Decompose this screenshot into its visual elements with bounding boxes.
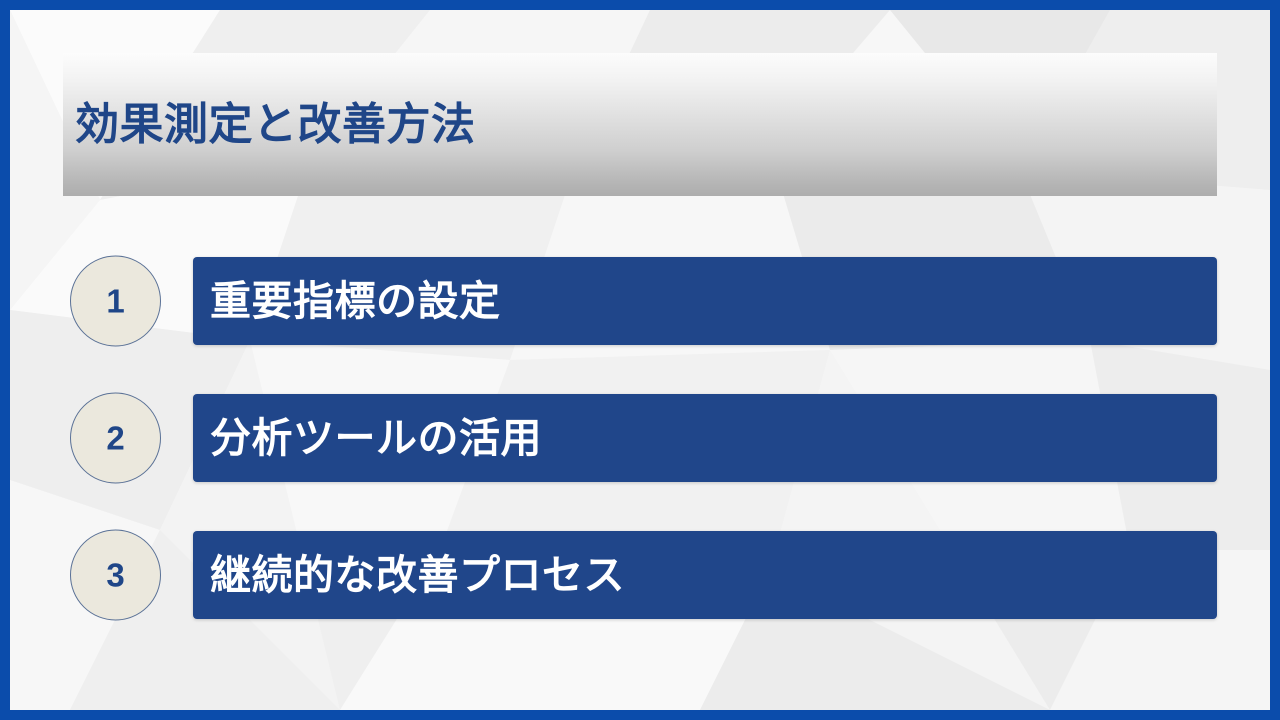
list-item[interactable]: 2 分析ツールの活用 [10, 394, 1270, 482]
title-banner: 効果測定と改善方法 [63, 53, 1217, 196]
slide-root: 効果測定と改善方法 1 重要指標の設定 2 分析ツールの活用 [0, 0, 1280, 720]
item-bar[interactable]: 継続的な改善プロセス [193, 531, 1217, 619]
item-number-badge: 1 [70, 256, 161, 347]
page-title: 効果測定と改善方法 [75, 103, 476, 147]
slide-canvas: 効果測定と改善方法 1 重要指標の設定 2 分析ツールの活用 [10, 10, 1270, 710]
numbered-item-list: 1 重要指標の設定 2 分析ツールの活用 3 継続的な改善プ [10, 257, 1270, 668]
list-item[interactable]: 1 重要指標の設定 [10, 257, 1270, 345]
item-bar-label: 重要指標の設定 [193, 281, 501, 322]
item-number-label: 1 [106, 285, 124, 318]
item-number-badge: 2 [70, 393, 161, 484]
item-bar-label: 分析ツールの活用 [193, 418, 542, 459]
item-bar[interactable]: 重要指標の設定 [193, 257, 1217, 345]
item-bar[interactable]: 分析ツールの活用 [193, 394, 1217, 482]
list-item[interactable]: 3 継続的な改善プロセス [10, 531, 1270, 619]
item-number-badge: 3 [70, 530, 161, 621]
item-number-label: 3 [106, 559, 124, 592]
item-bar-label: 継続的な改善プロセス [193, 555, 625, 596]
item-number-label: 2 [106, 422, 124, 455]
